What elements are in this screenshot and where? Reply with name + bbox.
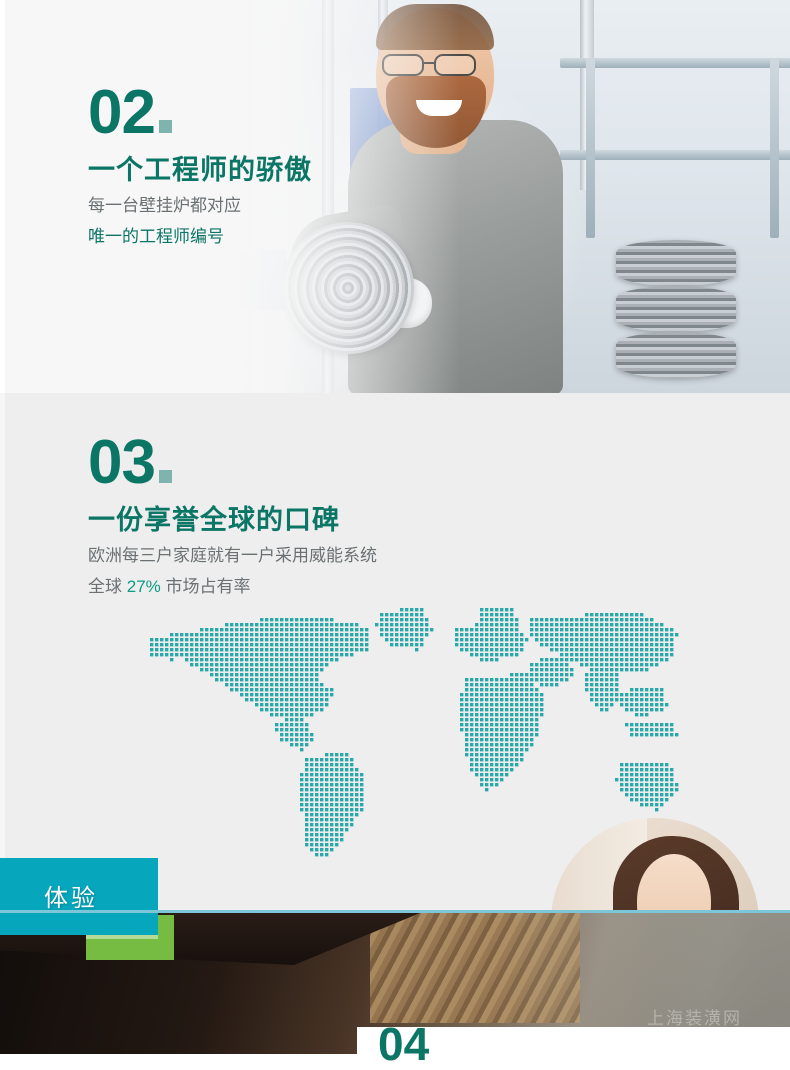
left-white-strip xyxy=(0,0,5,393)
section-02-number-text: 02 xyxy=(88,78,155,147)
section-02-heading: 一个工程师的骄傲 xyxy=(88,154,312,188)
photo-woman-with-mug xyxy=(551,818,759,912)
shelf-post xyxy=(770,58,779,238)
section-03-subtitle-line1: 欧洲每三户家庭就有一户采用威能系统 xyxy=(88,542,377,570)
factory-photo xyxy=(230,0,790,393)
coil-stack xyxy=(616,240,736,286)
experience-button-label: 体验 xyxy=(44,878,98,913)
section-02-number-dot xyxy=(159,120,172,133)
section-02-engineer-pride: 02 一个工程师的骄傲 每一台壁挂炉都对应 唯一的工程师编号 xyxy=(0,0,790,393)
section-02-subtitle-line2: 唯一的工程师编号 xyxy=(88,223,312,251)
section-03-global-reputation: 03 一份享誉全球的口碑 欧洲每三户家庭就有一户采用威能系统 全球 27% 市场… xyxy=(0,393,790,912)
section-02-subtitle-line1: 每一台壁挂炉都对应 xyxy=(88,192,312,220)
watermark: 上海装潢网 xyxy=(647,1004,742,1029)
coil-stack xyxy=(616,286,736,332)
shelf-post xyxy=(586,58,595,238)
experience-button[interactable]: 体验 xyxy=(0,858,158,935)
section-03-heading: 一份享誉全球的口碑 xyxy=(88,504,377,538)
coil-stack xyxy=(616,332,736,378)
section-03-text-block: 03 一份享誉全球的口碑 欧洲每三户家庭就有一户采用威能系统 全球 27% 市场… xyxy=(88,432,377,601)
section-04-number: 04 xyxy=(378,1021,429,1067)
left-white-strip xyxy=(0,393,5,912)
section-03-number-dot xyxy=(159,470,172,483)
market-share-prefix: 全球 xyxy=(88,577,127,596)
market-share-suffix: 市场占有率 xyxy=(161,577,251,596)
photo-woman-with-mug-content xyxy=(551,818,759,912)
section-divider-line xyxy=(0,910,790,913)
market-share-percent: 27% xyxy=(127,577,161,596)
promo-page: 02 一个工程师的骄傲 每一台壁挂炉都对应 唯一的工程师编号 xyxy=(0,0,790,1054)
section-03-number-text: 03 xyxy=(88,428,155,497)
section-02-number: 02 xyxy=(88,82,312,144)
section-04-card: 04 xyxy=(357,1027,790,1054)
section-02-text-block: 02 一个工程师的骄傲 每一台壁挂炉都对应 唯一的工程师编号 xyxy=(88,82,312,251)
section-03-subtitle-line2: 全球 27% 市场占有率 xyxy=(88,573,377,601)
section-03-number: 03 xyxy=(88,432,377,494)
